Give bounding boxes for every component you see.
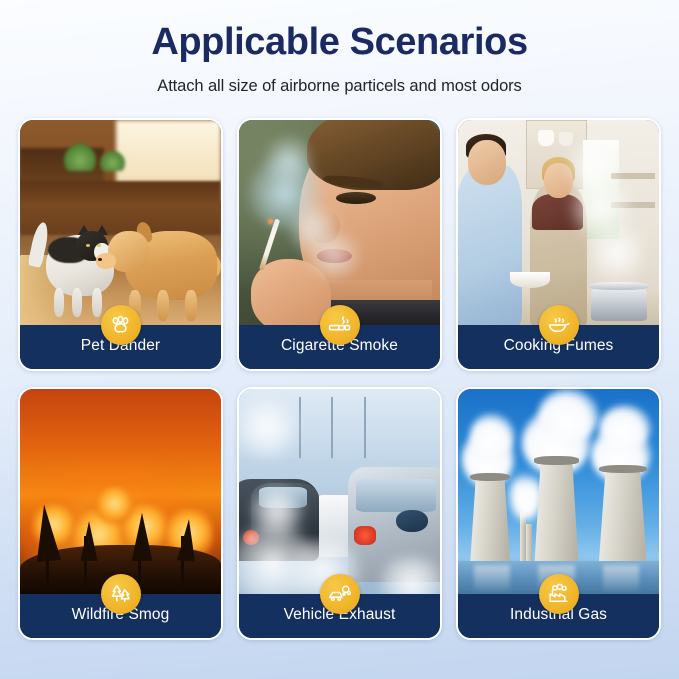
scenario-photo-cooking-fumes — [458, 120, 659, 325]
page-title: Applicable Scenarios — [0, 22, 679, 64]
scenario-label-bar-industrial-gas: Industrial Gas — [458, 594, 659, 638]
scenario-card-cigarette-smoke[interactable]: Cigarette Smoke — [237, 118, 442, 371]
applicable-scenarios-infographic: Applicable Scenarios Attach all size of … — [0, 0, 679, 679]
scenario-label-bar-wildfire-smog: Wildfire Smog — [20, 594, 221, 638]
factory-icon — [539, 574, 579, 614]
paw-print-icon — [101, 305, 141, 345]
scenario-card-vehicle-exhaust[interactable]: Vehicle Exhaust — [237, 387, 442, 640]
power-plant-cooling-towers-image — [458, 389, 659, 594]
scenario-photo-pet-dander — [20, 120, 221, 325]
scenario-card-grid: Pet Dander — [18, 118, 661, 640]
scenario-photo-vehicle-exhaust — [239, 389, 440, 594]
scenario-photo-industrial-gas — [458, 389, 659, 594]
scenario-label-bar-cigarette-smoke: Cigarette Smoke — [239, 325, 440, 369]
scenario-photo-cigarette-smoke — [239, 120, 440, 325]
cigarette-icon — [320, 305, 360, 345]
scenario-label-bar-pet-dander: Pet Dander — [20, 325, 221, 369]
steaming-pan-icon — [539, 305, 579, 345]
scenario-photo-wildfire-smog — [20, 389, 221, 594]
header: Applicable Scenarios Attach all size of … — [0, 0, 679, 96]
scenario-label-bar-cooking-fumes: Cooking Fumes — [458, 325, 659, 369]
page-subtitle: Attach all size of airborne particels an… — [0, 77, 679, 96]
cat-and-dog-in-living-room-image — [20, 120, 221, 325]
man-smoking-cigarette-image — [239, 120, 440, 325]
traffic-jam-with-exhaust-image — [239, 389, 440, 594]
scenario-card-pet-dander[interactable]: Pet Dander — [18, 118, 223, 371]
forest-wildfire-image — [20, 389, 221, 594]
burning-forest-icon — [101, 574, 141, 614]
car-exhaust-icon — [320, 574, 360, 614]
scenario-label-bar-vehicle-exhaust: Vehicle Exhaust — [239, 594, 440, 638]
scenario-card-wildfire-smog[interactable]: Wildfire Smog — [18, 387, 223, 640]
scenario-card-industrial-gas[interactable]: Industrial Gas — [456, 387, 661, 640]
couple-cooking-in-kitchen-image — [458, 120, 659, 325]
scenario-card-cooking-fumes[interactable]: Cooking Fumes — [456, 118, 661, 371]
